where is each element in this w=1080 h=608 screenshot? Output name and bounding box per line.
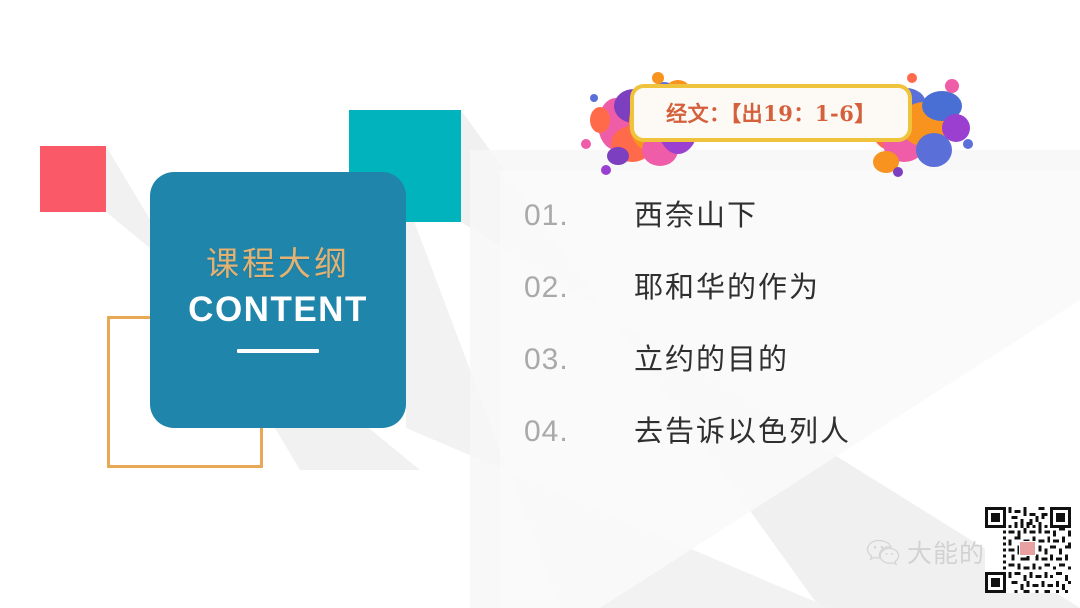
scripture-badge-text: 经文：【出19：1-6】 [666, 98, 876, 128]
slide-canvas: 课程大纲 CONTENT [0, 0, 1080, 608]
outline-number: 03. [524, 343, 634, 377]
outline-list: 01. 西奈山下 02. 耶和华的作为 03. 立约的目的 04. 去告诉以色列… [524, 192, 984, 480]
card-title-chinese: 课程大纲 [206, 247, 350, 280]
outline-label: 去告诉以色列人 [634, 408, 851, 450]
outline-label: 立约的目的 [634, 336, 789, 378]
wechat-icon [866, 538, 900, 566]
outline-label: 耶和华的作为 [634, 264, 820, 306]
qr-center-logo [1019, 541, 1036, 556]
outline-item-2[interactable]: 02. 耶和华的作为 [524, 264, 984, 336]
wechat-watermark: 大能的 [866, 534, 985, 570]
outline-item-3[interactable]: 03. 立约的目的 [524, 336, 984, 408]
outline-item-4[interactable]: 04. 去告诉以色列人 [524, 408, 984, 480]
card-title-english: CONTENT [188, 292, 368, 327]
outline-number: 01. [524, 199, 634, 233]
watermark-text: 大能的 [907, 534, 985, 570]
decor-square-pink [40, 146, 106, 212]
card-underline-rule [237, 349, 319, 353]
scripture-badge: 经文：【出19：1-6】 [630, 84, 912, 142]
outline-number: 04. [524, 415, 634, 449]
scripture-badge-group: 经文：【出19：1-6】 [560, 62, 980, 180]
outline-label: 西奈山下 [634, 192, 758, 234]
outline-number: 02. [524, 271, 634, 305]
content-card: 课程大纲 CONTENT [150, 172, 406, 428]
outline-item-1[interactable]: 01. 西奈山下 [524, 192, 984, 264]
